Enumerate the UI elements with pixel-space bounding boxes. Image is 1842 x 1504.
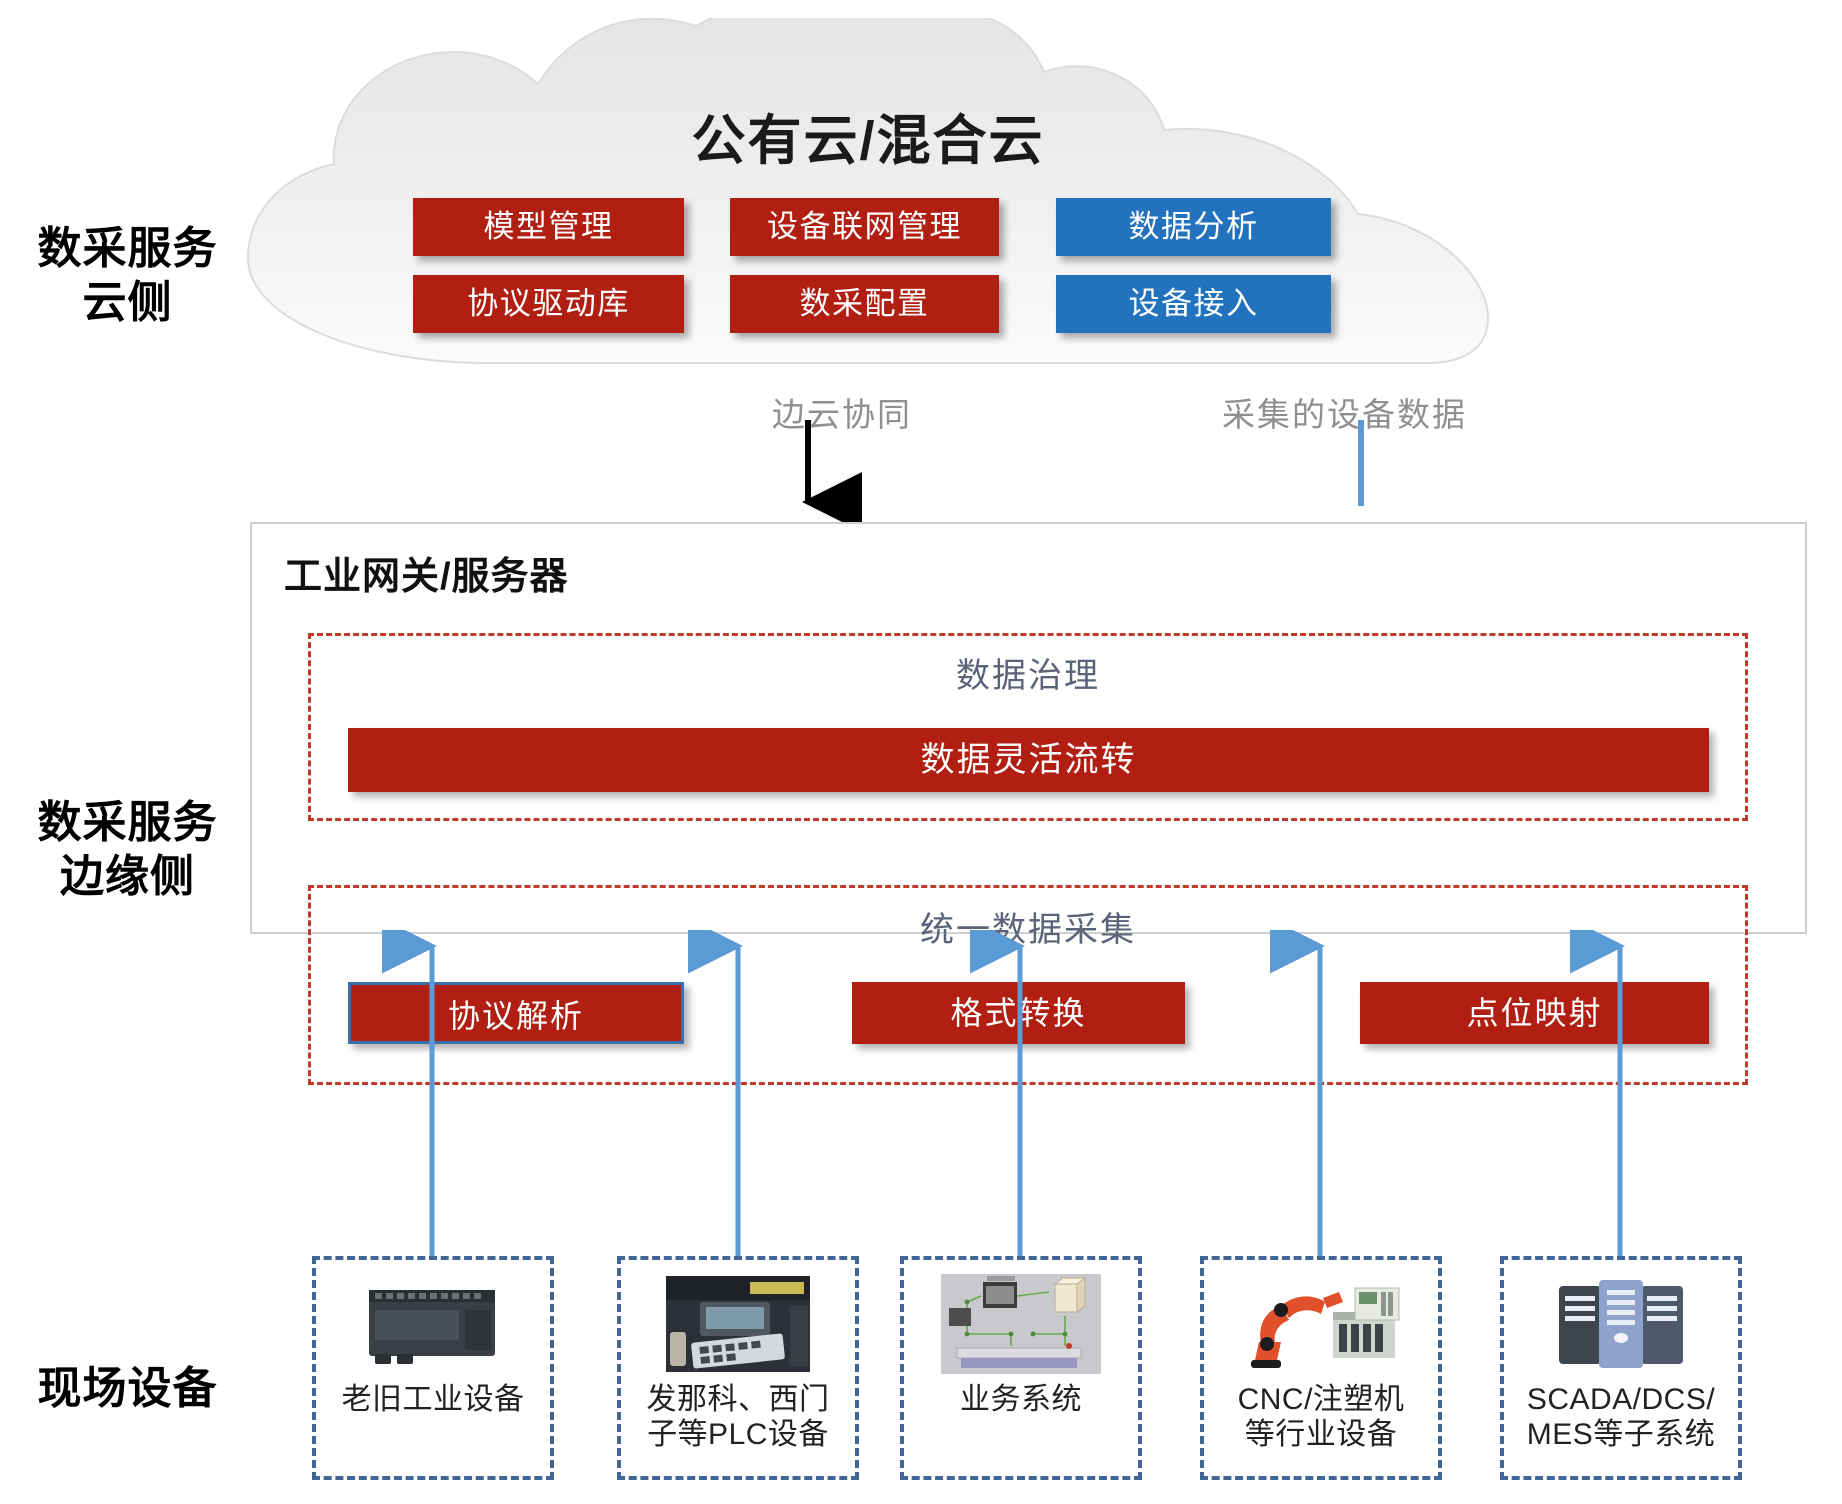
tier-label-cloud: 数采服务 云侧 (20, 222, 235, 329)
cloud-box-protocol-library[interactable]: 协议驱动库 (413, 275, 684, 333)
data-governance-title: 数据治理 (308, 648, 1748, 697)
data-flexible-flow-bar[interactable]: 数据灵活流转 (348, 728, 1709, 792)
cloud-box-acquisition-config[interactable]: 数采配置 (730, 275, 999, 333)
device-label: SCADA/DCS/ MES等子系统 (1505, 1382, 1737, 1453)
device-card-legacy-equipment[interactable]: 老旧工业设备 (312, 1256, 554, 1480)
device-to-gateway-arrows (0, 930, 1842, 1260)
server-rack-icon (1537, 1272, 1705, 1376)
flow-label-edge-cloud-collaboration: 边云协同 (772, 388, 912, 436)
plc-module-icon (349, 1272, 517, 1376)
device-card-plc-brands[interactable]: 发那科、西门 子等PLC设备 (617, 1256, 859, 1480)
cloud-box-device-network[interactable]: 设备联网管理 (730, 198, 999, 256)
device-label: 业务系统 (905, 1382, 1137, 1417)
tier-label-field: 现场设备 (20, 1362, 235, 1416)
device-card-business-system[interactable]: 业务系统 (900, 1256, 1142, 1480)
device-label: 发那科、西门 子等PLC设备 (622, 1382, 854, 1453)
cloud-box-data-analysis[interactable]: 数据分析 (1056, 198, 1331, 256)
gateway-title: 工业网关/服务器 (284, 545, 569, 600)
tier-label-edge: 数采服务 边缘侧 (20, 796, 235, 903)
device-card-scada-dcs-mes[interactable]: SCADA/DCS/ MES等子系统 (1500, 1256, 1742, 1480)
cloud-box-model-management[interactable]: 模型管理 (413, 198, 684, 256)
cloud-title: 公有云/混合云 (238, 96, 1498, 175)
device-card-cnc-industry[interactable]: CNC/注塑机 等行业设备 (1200, 1256, 1442, 1480)
device-label: CNC/注塑机 等行业设备 (1205, 1382, 1437, 1453)
cnc-panel-icon (654, 1272, 822, 1376)
device-label: 老旧工业设备 (317, 1382, 549, 1417)
cloud-region: 公有云/混合云 模型管理 协议驱动库 设备联网管理 数采配置 数据分析 设备接入 (238, 18, 1498, 373)
cloud-box-device-access[interactable]: 设备接入 (1056, 275, 1331, 333)
robot-arm-icon (1237, 1272, 1405, 1376)
cloud-edge-flow-arrows (0, 420, 1842, 530)
flow-label-collected-device-data: 采集的设备数据 (1222, 388, 1467, 436)
diagram-canvas: 数采服务 云侧 数采服务 边缘侧 现场设备 公有云/混合云 模型管理 协议驱动库… (0, 0, 1842, 1504)
business-system-diagram-icon (937, 1272, 1105, 1376)
